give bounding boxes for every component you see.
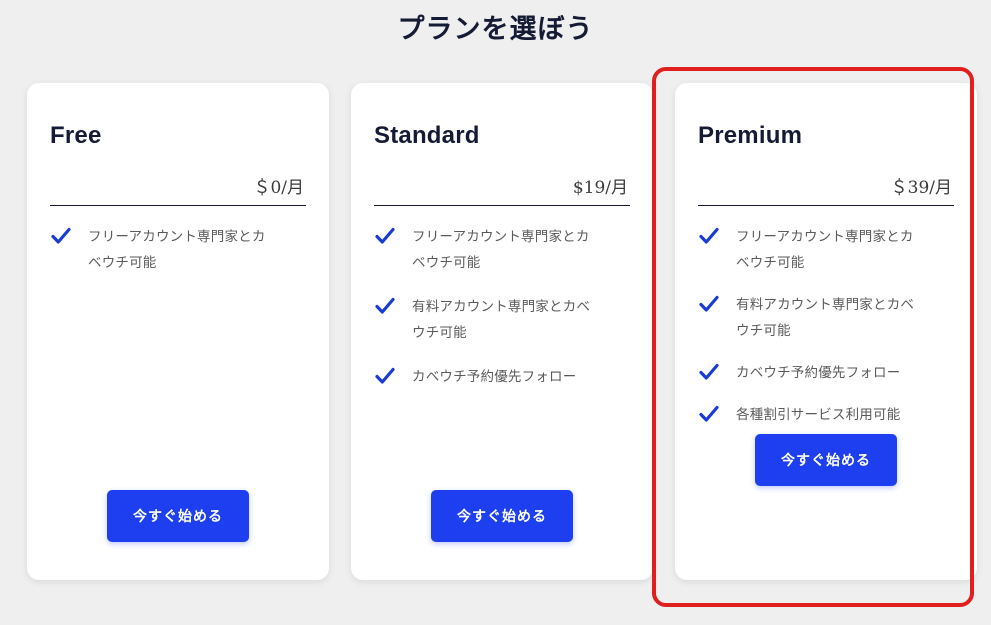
pricing-cards-row: Free ＄0/月 フリーアカウント専門家とカベウチ可能 今すぐ始める — [0, 83, 991, 580]
list-item: カベウチ予約優先フォロー — [374, 364, 630, 390]
feature-list: フリーアカウント専門家とカベウチ可能 有料アカウント専門家とカベウチ可能 — [374, 224, 630, 390]
price-divider — [374, 205, 630, 206]
feature-text: 有料アカウント専門家とカベウチ可能 — [736, 292, 926, 344]
list-item: フリーアカウント専門家とカベウチ可能 — [50, 224, 306, 276]
list-item: フリーアカウント専門家とカベウチ可能 — [698, 224, 954, 276]
plan-name: Free — [50, 121, 306, 151]
plan-card-standard[interactable]: Standard $19/月 フリーアカウント専門家とカベウチ可能 — [351, 83, 653, 580]
feature-text: フリーアカウント専門家とカベウチ可能 — [736, 224, 926, 276]
list-item: フリーアカウント専門家とカベウチ可能 — [374, 224, 630, 276]
check-icon — [698, 225, 720, 247]
start-now-button[interactable]: 今すぐ始める — [755, 434, 897, 486]
plan-name: Standard — [374, 121, 630, 151]
list-item: 有料アカウント専門家とカベウチ可能 — [374, 294, 630, 346]
list-item: 各種割引サービス利用可能 — [698, 402, 954, 428]
check-icon — [50, 225, 72, 247]
check-icon — [374, 365, 396, 387]
plan-card-premium[interactable]: Premium ＄39/月 フリーアカウント専門家とカベウチ可能 — [675, 83, 977, 580]
plan-card-slot-premium: Premium ＄39/月 フリーアカウント専門家とカベウチ可能 — [675, 83, 977, 580]
plan-card-slot-standard: Standard $19/月 フリーアカウント専門家とカベウチ可能 — [351, 83, 653, 580]
plan-price: ＄39/月 — [698, 177, 954, 205]
check-icon — [374, 295, 396, 317]
check-icon — [698, 361, 720, 383]
price-divider — [50, 205, 306, 206]
cta-wrapper: 今すぐ始める — [698, 434, 954, 486]
feature-text: カベウチ予約優先フォロー — [736, 360, 900, 386]
list-item: カベウチ予約優先フォロー — [698, 360, 954, 386]
check-icon — [374, 225, 396, 247]
check-icon — [698, 403, 720, 425]
cta-wrapper: 今すぐ始める — [374, 490, 630, 580]
cta-wrapper: 今すぐ始める — [50, 490, 306, 580]
feature-list: フリーアカウント専門家とカベウチ可能 — [50, 224, 306, 276]
feature-list: フリーアカウント専門家とカベウチ可能 有料アカウント専門家とカベウチ可能 — [698, 224, 954, 428]
feature-text: 有料アカウント専門家とカベウチ可能 — [412, 294, 602, 346]
start-now-button[interactable]: 今すぐ始める — [431, 490, 573, 542]
check-icon — [698, 293, 720, 315]
plan-card-slot-free: Free ＄0/月 フリーアカウント専門家とカベウチ可能 今すぐ始める — [27, 83, 329, 580]
feature-text: 各種割引サービス利用可能 — [736, 402, 900, 428]
plan-price: $19/月 — [374, 177, 630, 205]
plan-price: ＄0/月 — [50, 177, 306, 205]
feature-text: フリーアカウント専門家とカベウチ可能 — [412, 224, 602, 276]
plan-name: Premium — [698, 121, 954, 151]
page-title: プランを選ぼう — [0, 0, 991, 46]
feature-text: カベウチ予約優先フォロー — [412, 364, 576, 390]
start-now-button[interactable]: 今すぐ始める — [107, 490, 249, 542]
plan-card-free[interactable]: Free ＄0/月 フリーアカウント専門家とカベウチ可能 今すぐ始める — [27, 83, 329, 580]
feature-text: フリーアカウント専門家とカベウチ可能 — [88, 224, 278, 276]
price-divider — [698, 205, 954, 206]
list-item: 有料アカウント専門家とカベウチ可能 — [698, 292, 954, 344]
